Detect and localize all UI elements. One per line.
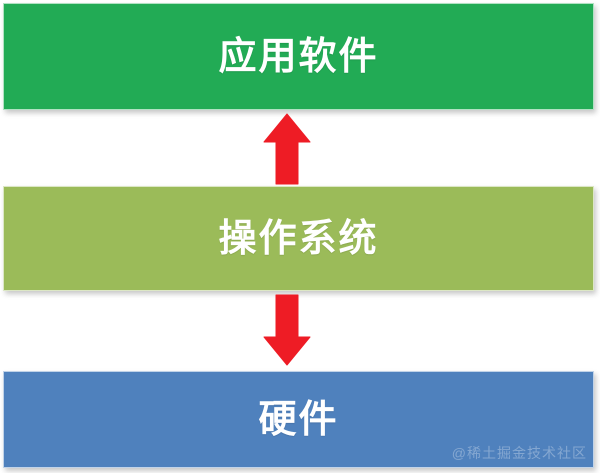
watermark-text: @稀土掘金技术社区 — [452, 443, 587, 463]
layer-label-application: 应用软件 — [218, 38, 378, 76]
arrow-down-icon — [262, 294, 312, 366]
layer-label-operating-system: 操作系统 — [218, 220, 378, 258]
diagram-canvas: 应用软件 操作系统 硬件 @稀土掘金技术社区 — [0, 0, 600, 473]
layer-box-application: 应用软件 — [3, 3, 594, 110]
layer-label-hardware: 硬件 — [258, 401, 338, 439]
arrow-up-icon — [262, 113, 312, 185]
layer-box-hardware: 硬件 @稀土掘金技术社区 — [3, 371, 594, 468]
layer-box-operating-system: 操作系统 — [3, 186, 594, 291]
